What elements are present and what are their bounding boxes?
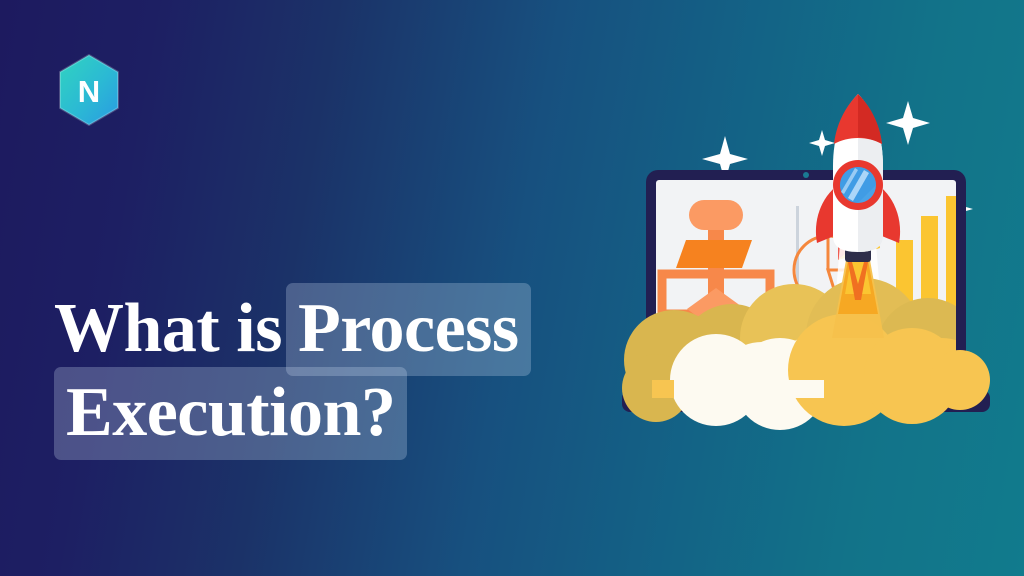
laptop-camera-dot	[803, 172, 809, 178]
flowchart-node-io	[676, 240, 752, 268]
headline-line-1: What isProcess	[52, 287, 672, 371]
headline-highlight-process: Process	[286, 283, 531, 376]
headline-highlight-execution: Execution?	[54, 367, 407, 460]
hero-banner: N What isProcess Execution?	[0, 0, 1024, 576]
flowchart-node-start	[689, 200, 743, 230]
rocket-laptop-illustration	[612, 88, 1012, 508]
logo-letter: N	[78, 74, 100, 109]
headline-line-2: Execution?	[52, 371, 672, 455]
page-title: What isProcess Execution?	[52, 287, 672, 455]
headline-plain-text: What is	[52, 290, 284, 367]
rocket-nose-shade	[858, 94, 882, 144]
hexagon-logo-icon[interactable]: N	[56, 54, 122, 126]
